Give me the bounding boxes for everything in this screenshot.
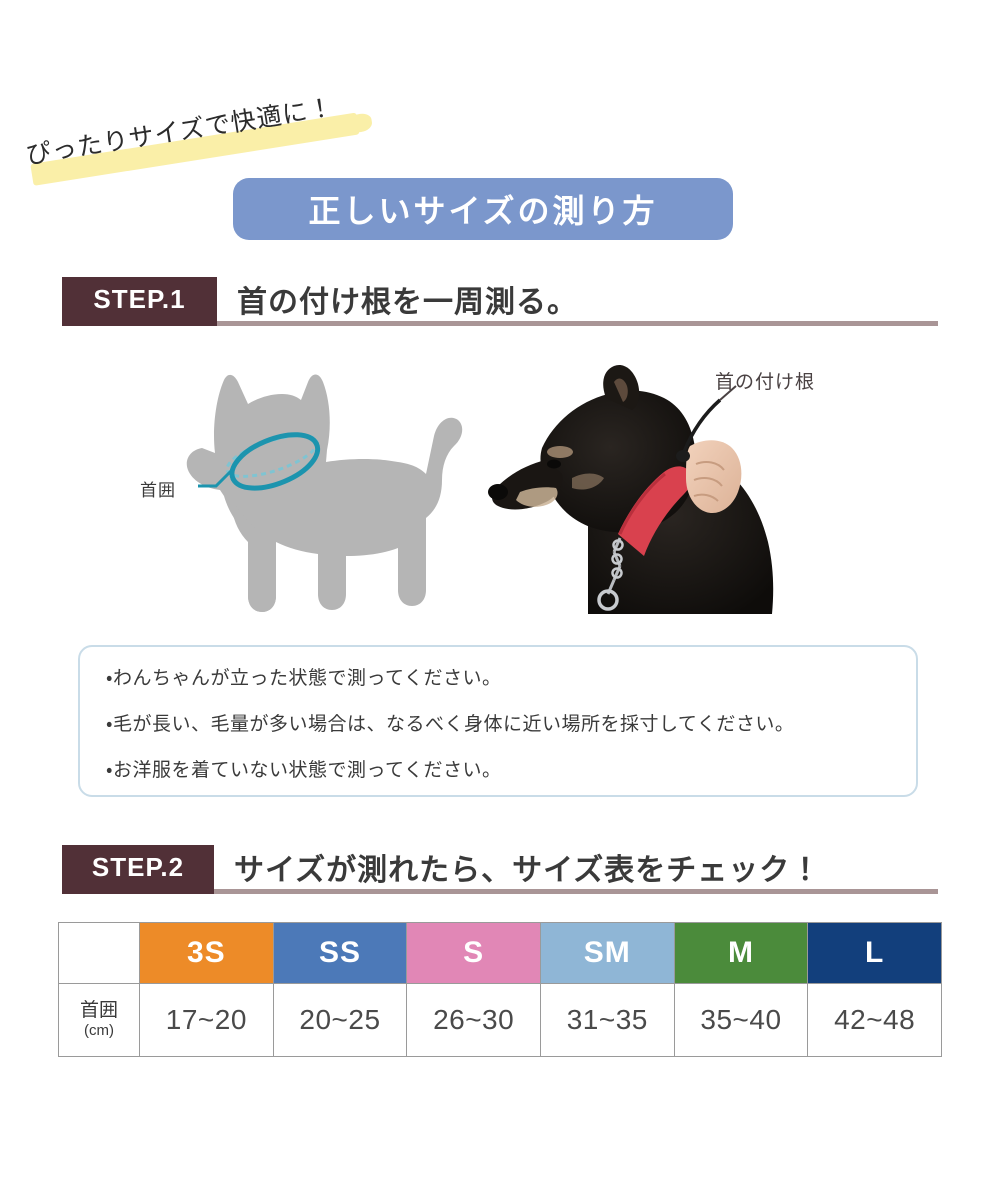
step1-heading-text: 首の付け根を一周測る。 [237,276,578,322]
row-label-neck-jp: 首囲 [59,1000,139,1022]
size-table-header-row: 3S SS S SM M L [59,923,942,984]
size-header-3s: 3S [140,923,274,984]
step1-badge: STEP.1 [62,277,217,321]
size-table-row-neck: 首囲 (cm) 17~20 20~25 26~30 31~35 35~40 42… [59,984,942,1057]
neck-value-ss: 20~25 [273,984,407,1057]
note-item: ・お洋服を着ていない状態で測ってください。 [106,761,916,781]
row-label-neck-unit: (cm) [59,1022,139,1040]
size-header-s: S [407,923,541,984]
step2-rule-dark [62,889,214,894]
neck-base-callout-label: 首の付け根 [715,367,815,394]
size-header-m: M [674,923,808,984]
size-table: 3S SS S SM M L 首囲 (cm) 17~20 20~25 26~30… [58,922,942,1057]
page-title-pill: 正しいサイズの測り方 [233,178,733,240]
step2-badge: STEP.2 [62,845,214,889]
size-guide-page: ぴったりサイズで快適に！ 正しいサイズの測り方 STEP.1 首の付け根を一周測… [0,0,1000,1200]
neck-value-l: 42~48 [808,984,942,1057]
note-item: ・毛が長い、毛量が多い場合は、なるべく身体に近い場所を採寸してください。 [106,715,916,735]
page-title: 正しいサイズの測り方 [308,186,657,232]
dog-photo-svg [468,352,878,637]
neck-value-m: 35~40 [674,984,808,1057]
neck-value-3s: 17~20 [140,984,274,1057]
step2-heading-text: サイズが測れたら、サイズ表をチェック！ [234,844,821,890]
size-header-ss: SS [273,923,407,984]
dog-silhouette-illustration: 首囲 [120,358,465,640]
neck-value-s: 26~30 [407,984,541,1057]
measurement-notes-box: ・わんちゃんが立った状態で測ってください。 ・毛が長い、毛量が多い場合は、なるべ… [78,645,918,797]
neck-circumference-label: 首囲 [140,476,176,501]
step1-rule-dark [62,321,217,326]
size-table-corner-cell [59,923,140,984]
dog-photo: 首の付け根 [468,352,878,637]
neck-value-sm: 31~35 [540,984,674,1057]
note-item: ・わんちゃんが立った状態で測ってください。 [106,669,916,689]
step2-heading: STEP.2 サイズが測れたら、サイズ表をチェック！ [62,845,938,897]
size-header-sm: SM [540,923,674,984]
size-header-l: L [808,923,942,984]
row-label-neck: 首囲 (cm) [59,984,140,1057]
step1-heading: STEP.1 首の付け根を一周測る。 [62,277,938,329]
